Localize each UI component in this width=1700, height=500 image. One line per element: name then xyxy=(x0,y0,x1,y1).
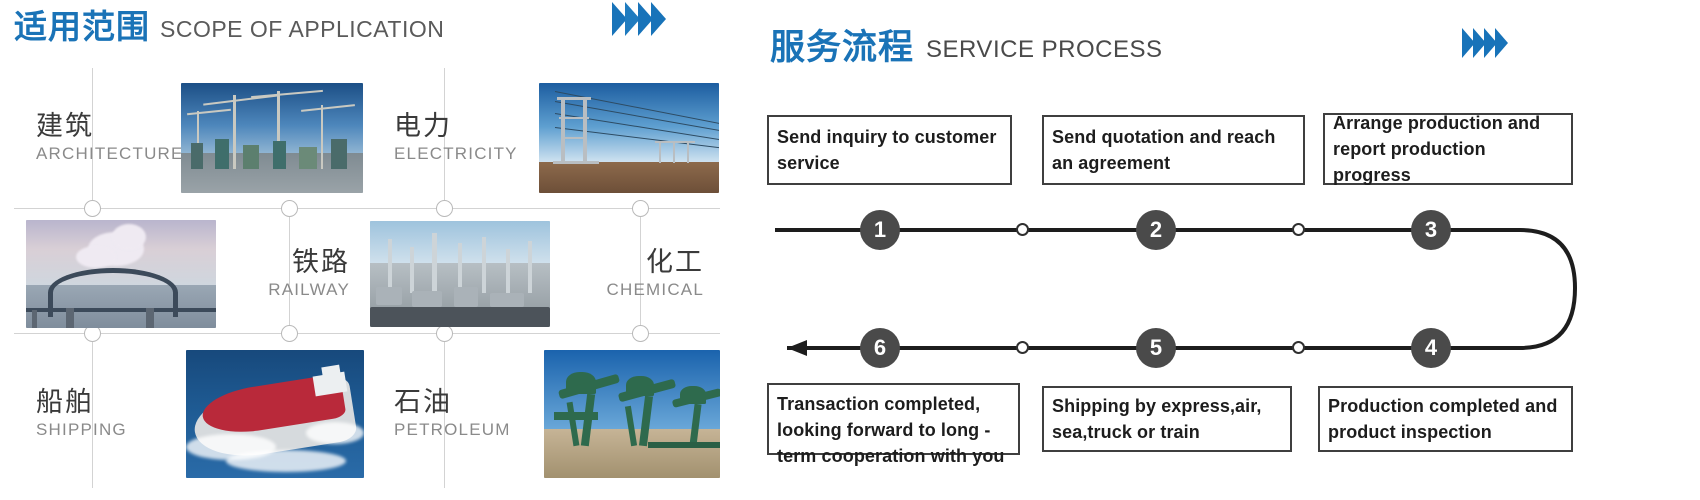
left-title-en: SCOPE OF APPLICATION xyxy=(160,18,444,43)
scope-item-chemical[interactable]: 化工 CHEMICAL xyxy=(370,220,718,328)
scope-item-en: RAILWAY xyxy=(268,280,350,300)
scope-item-shipping[interactable]: 船舶 SHIPPING xyxy=(14,346,364,482)
scope-item-railway[interactable]: 铁路 RAILWAY xyxy=(26,220,366,328)
scope-item-label-group: 电力 ELECTRICITY xyxy=(366,111,539,164)
scope-item-cn: 建筑 xyxy=(36,111,181,142)
scope-item-en: ARCHITECTURE xyxy=(36,144,181,164)
process-node-number: 5 xyxy=(1150,335,1162,361)
scope-item-en: SHIPPING xyxy=(36,420,186,440)
scope-grid: 建筑 ARCHITECTURE xyxy=(14,68,720,488)
scope-item-label-group: 铁路 RAILWAY xyxy=(216,247,366,300)
process-box-text: Transaction completed, looking forward t… xyxy=(777,391,1010,469)
process-node-number: 1 xyxy=(874,217,886,243)
process-node-3[interactable]: 3 xyxy=(1412,211,1450,249)
left-title-cn: 适用范围 xyxy=(14,10,150,43)
process-box-2[interactable]: Send quotation and reach an agreement xyxy=(1042,115,1305,185)
process-box-text: Send inquiry to customer service xyxy=(777,124,1002,176)
process-node-4[interactable]: 4 xyxy=(1412,329,1450,367)
process-box-text: Shipping by express,air, sea,truck or tr… xyxy=(1052,393,1282,445)
scope-item-electricity[interactable]: 电力 ELECTRICITY xyxy=(366,72,720,204)
process-box-4[interactable]: Production completed and product inspect… xyxy=(1318,386,1573,452)
process-box-text: Production completed and product inspect… xyxy=(1328,393,1563,445)
process-dot-node xyxy=(1016,341,1029,354)
process-box-6[interactable]: Transaction completed, looking forward t… xyxy=(767,383,1020,455)
scope-item-image-railway xyxy=(26,220,216,328)
scope-item-en: CHEMICAL xyxy=(607,280,704,300)
scope-item-label-group: 建筑 ARCHITECTURE xyxy=(14,111,181,164)
process-node-2[interactable]: 2 xyxy=(1137,211,1175,249)
process-dot-node xyxy=(1292,223,1305,236)
scope-item-label-group: 化工 CHEMICAL xyxy=(550,247,718,300)
scope-item-image-electricity xyxy=(539,83,719,193)
process-node-number: 2 xyxy=(1150,217,1162,243)
scope-item-cn: 铁路 xyxy=(292,247,350,278)
process-node-6[interactable]: 6 xyxy=(861,329,899,367)
left-panel-header: 适用范围 SCOPE OF APPLICATION xyxy=(14,10,444,43)
left-chevron-left-quad-icon xyxy=(612,2,664,36)
scope-item-en: ELECTRICITY xyxy=(394,144,539,164)
scope-item-image-petroleum xyxy=(544,350,720,478)
scope-item-cn: 船舶 xyxy=(36,387,186,418)
process-node-number: 4 xyxy=(1425,335,1437,361)
scope-item-image-shipping xyxy=(186,350,364,478)
chevron-left-icon xyxy=(651,2,666,36)
scope-item-image-architecture xyxy=(181,83,363,193)
grid-divider xyxy=(14,333,720,334)
scope-item-cn: 石油 xyxy=(394,387,544,418)
process-dot-node xyxy=(1292,341,1305,354)
process-box-text: Send quotation and reach an agreement xyxy=(1052,124,1295,176)
scope-item-label-group: 船舶 SHIPPING xyxy=(14,387,186,440)
grid-divider xyxy=(14,208,720,209)
service-process-panel: 服务流程 SERVICE PROCESS Send inquiry to cus… xyxy=(745,0,1700,500)
process-node-number: 3 xyxy=(1425,217,1437,243)
scope-of-application-panel: 适用范围 SCOPE OF APPLICATION xyxy=(0,0,740,500)
scope-item-petroleum[interactable]: 石油 PETROLEUM xyxy=(366,346,720,482)
process-box-text: Arrange production and report production… xyxy=(1333,110,1563,188)
scope-item-en: PETROLEUM xyxy=(394,420,544,440)
process-box-1[interactable]: Send inquiry to customer service xyxy=(767,115,1012,185)
process-node-number: 6 xyxy=(874,335,886,361)
process-node-5[interactable]: 5 xyxy=(1137,329,1175,367)
scope-item-label-group: 石油 PETROLEUM xyxy=(366,387,544,440)
slide-root: 适用范围 SCOPE OF APPLICATION xyxy=(0,0,1700,500)
process-box-3[interactable]: Arrange production and report production… xyxy=(1323,113,1573,185)
process-node-1[interactable]: 1 xyxy=(861,211,899,249)
process-dot-node xyxy=(1016,223,1029,236)
scope-item-image-chemical xyxy=(370,221,550,327)
process-box-5[interactable]: Shipping by express,air, sea,truck or tr… xyxy=(1042,386,1292,452)
scope-item-architecture[interactable]: 建筑 ARCHITECTURE xyxy=(14,72,364,204)
scope-item-cn: 化工 xyxy=(646,247,704,278)
scope-item-cn: 电力 xyxy=(394,111,539,142)
